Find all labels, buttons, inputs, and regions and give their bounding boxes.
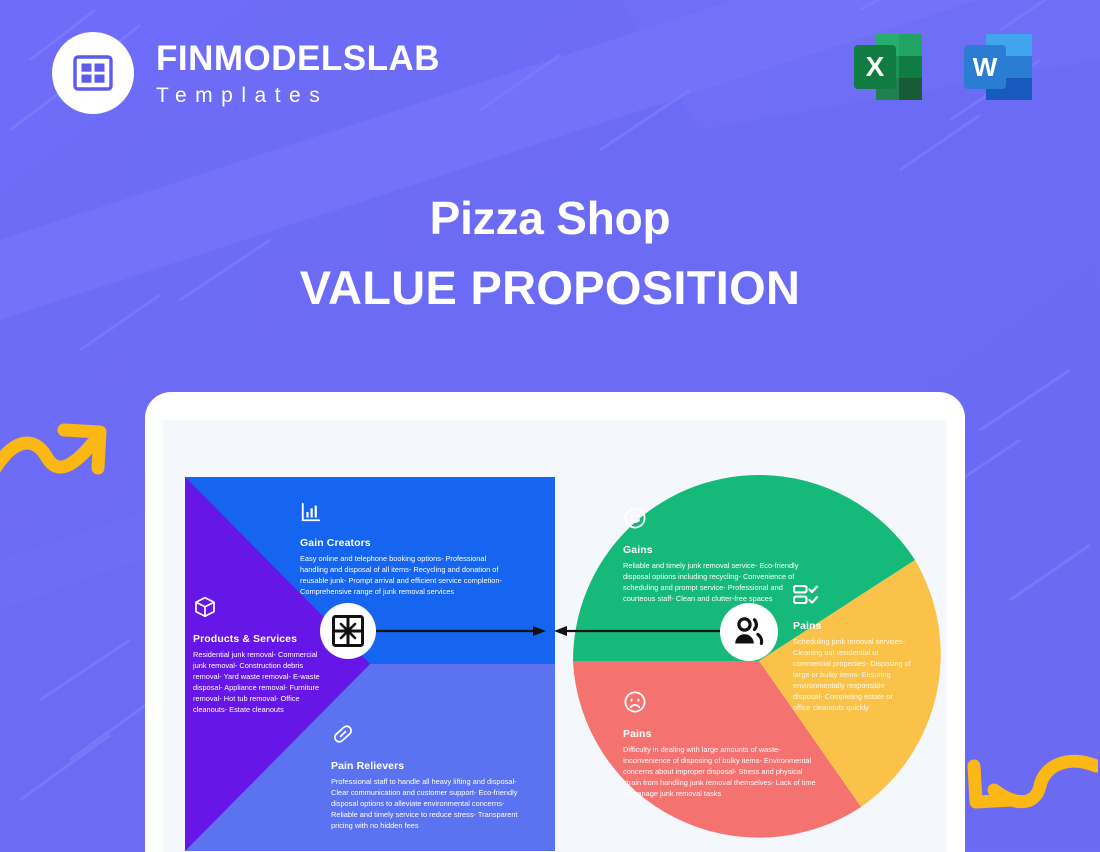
microsoft-word-icon[interactable]: W [960, 28, 1038, 106]
customer-profile-circle: Gains Reliable and timely junk removal s… [571, 470, 947, 852]
block-gains: Gains Reliable and timely junk removal s… [623, 506, 801, 605]
logo-badge [52, 32, 134, 114]
block-heading: Products & Services [193, 633, 328, 645]
page-subtitle: VALUE PROPOSITION [0, 261, 1100, 315]
svg-text:X: X [866, 51, 885, 82]
brand-logo[interactable]: FINMODELSLAB Templates [52, 32, 440, 114]
users-people-icon [730, 613, 768, 651]
page-header: FINMODELSLAB Templates X W [0, 0, 1100, 150]
pill-capsule-icon [331, 722, 355, 746]
block-body: Reliable and timely junk removal service… [623, 561, 801, 605]
value-map-square: Gain Creators Easy online and telephone … [185, 477, 555, 851]
office-format-icons: X W [850, 28, 1038, 106]
microsoft-excel-icon[interactable]: X [850, 28, 928, 106]
block-pain-relievers: Pain Relievers Professional staff to han… [331, 722, 531, 832]
brand-tagline: Templates [156, 85, 440, 106]
squiggly-arrow-up-right-icon [0, 408, 122, 503]
smiley-happy-icon [623, 506, 647, 530]
customer-profile-badge [720, 603, 778, 661]
gift-burst-square-icon [330, 613, 366, 649]
page-title: Pizza Shop [0, 192, 1100, 245]
block-heading: Pains [623, 728, 818, 740]
title-group: Pizza Shop VALUE PROPOSITION [0, 192, 1100, 315]
box-package-icon [193, 595, 217, 619]
block-gain-creators: Gain Creators Easy online and telephone … [300, 501, 515, 598]
block-pains-problems: Pains Difficulty in dealing with large a… [623, 690, 818, 800]
block-body: Easy online and telephone booking option… [300, 554, 515, 598]
smiley-sad-icon [623, 690, 647, 714]
double-headed-arrow-icon [330, 621, 770, 641]
block-body: Professional staff to handle all heavy l… [331, 777, 531, 832]
block-heading: Gains [623, 544, 801, 556]
block-products-services: Products & Services Residential junk rem… [193, 595, 328, 716]
brand-name: FINMODELSLAB [156, 41, 440, 76]
svg-text:W: W [973, 52, 998, 82]
checklist-icon [793, 584, 819, 606]
block-body: Residential junk removal- Commercial jun… [193, 650, 328, 716]
value-map-badge [320, 603, 376, 659]
block-heading: Gain Creators [300, 537, 515, 549]
block-heading: Pain Relievers [331, 760, 531, 772]
block-body: Difficulty in dealing with large amounts… [623, 745, 818, 800]
squiggly-arrow-down-left-icon [958, 752, 1098, 844]
bar-chart-icon [300, 501, 322, 523]
block-heading: Pains [793, 620, 911, 632]
grid-window-icon [71, 51, 115, 95]
